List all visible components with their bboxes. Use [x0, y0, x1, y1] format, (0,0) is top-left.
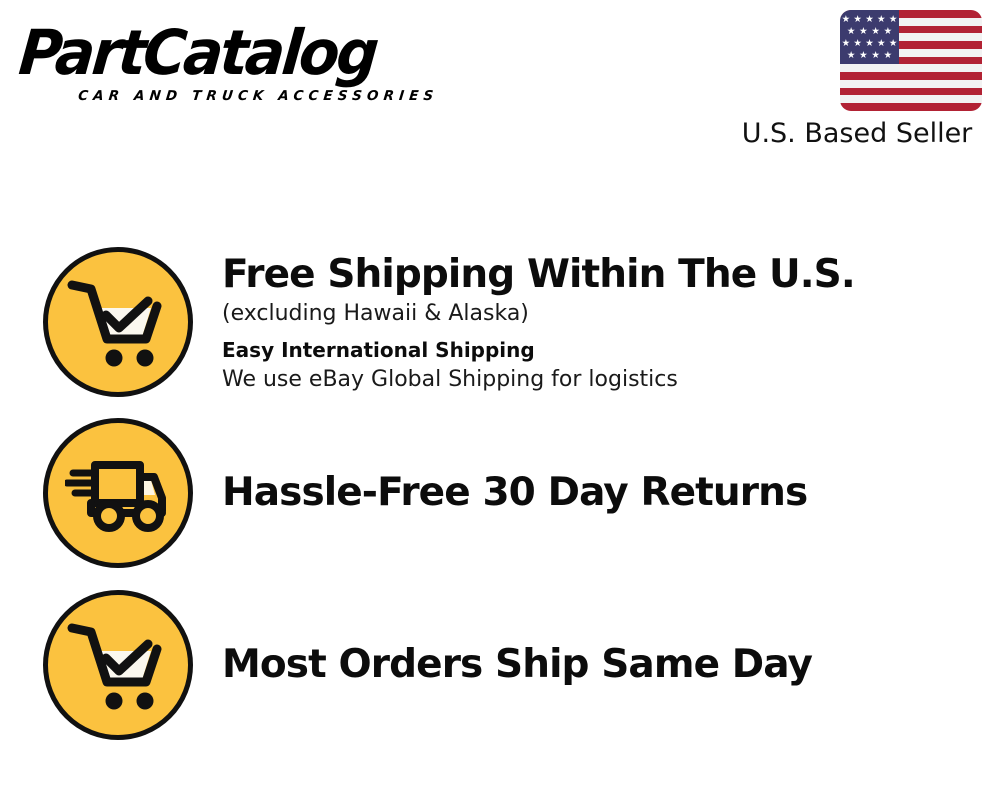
feature-row: Most Orders Ship Same Day: [43, 590, 943, 740]
us-based-seller-label: U.S. Based Seller: [726, 118, 988, 150]
flag-star: ★: [884, 51, 893, 61]
flag-star: ★: [865, 39, 874, 49]
flag-star: ★: [871, 27, 880, 37]
flag-star: ★: [859, 27, 868, 37]
flag-star: ★: [847, 51, 856, 61]
flag-star: ★: [853, 39, 862, 49]
brand-tagline: CAR AND TRUCK ACCESSORIES: [77, 88, 492, 104]
flag-star: ★: [877, 15, 886, 25]
flag-star: ★: [871, 51, 880, 61]
feature-text-block: Free Shipping Within The U.S. (excluding…: [193, 249, 943, 395]
feature-text-block: Most Orders Ship Same Day: [193, 641, 943, 689]
flag-star: ★: [859, 51, 868, 61]
flag-canton: ★ ★ ★ ★ ★ ★ ★ ★ ★ ★ ★ ★ ★ ★: [840, 10, 899, 64]
flag-star: ★: [884, 27, 893, 37]
delivery-truck-icon: [43, 418, 193, 568]
flag-star: ★: [877, 39, 886, 49]
flag-star: ★: [889, 15, 898, 25]
feature-subhead: Easy International Shipping: [222, 335, 943, 365]
feature-headline: Free Shipping Within The U.S.: [222, 251, 943, 299]
flag-star: ★: [853, 15, 862, 25]
brand-wordmark: PartCatalog: [17, 22, 469, 84]
feature-row: Hassle-Free 30 Day Returns: [43, 418, 943, 568]
flag-star: ★: [865, 15, 874, 25]
promo-banner: PartCatalog CAR AND TRUCK ACCESSORIES ★ …: [0, 0, 1000, 800]
shopping-cart-check-icon: [43, 247, 193, 397]
flag-star: ★: [889, 39, 898, 49]
flag-star: ★: [847, 27, 856, 37]
feature-headline: Hassle-Free 30 Day Returns: [222, 469, 943, 517]
feature-headline: Most Orders Ship Same Day: [222, 641, 943, 689]
feature-row: Free Shipping Within The U.S. (excluding…: [43, 247, 943, 397]
flag-star: ★: [842, 39, 851, 49]
shopping-cart-check-icon: [43, 590, 193, 740]
flag-star: ★: [842, 15, 851, 25]
feature-text-block: Hassle-Free 30 Day Returns: [193, 469, 943, 517]
feature-subline: (excluding Hawaii & Alaska): [222, 299, 943, 329]
brand-logo: PartCatalog CAR AND TRUCK ACCESSORIES: [22, 22, 492, 114]
us-flag-badge: ★ ★ ★ ★ ★ ★ ★ ★ ★ ★ ★ ★ ★ ★: [840, 10, 982, 111]
feature-subhead-detail: We use eBay Global Shipping for logistic…: [222, 365, 943, 395]
us-flag-icon: ★ ★ ★ ★ ★ ★ ★ ★ ★ ★ ★ ★ ★ ★: [840, 10, 982, 111]
